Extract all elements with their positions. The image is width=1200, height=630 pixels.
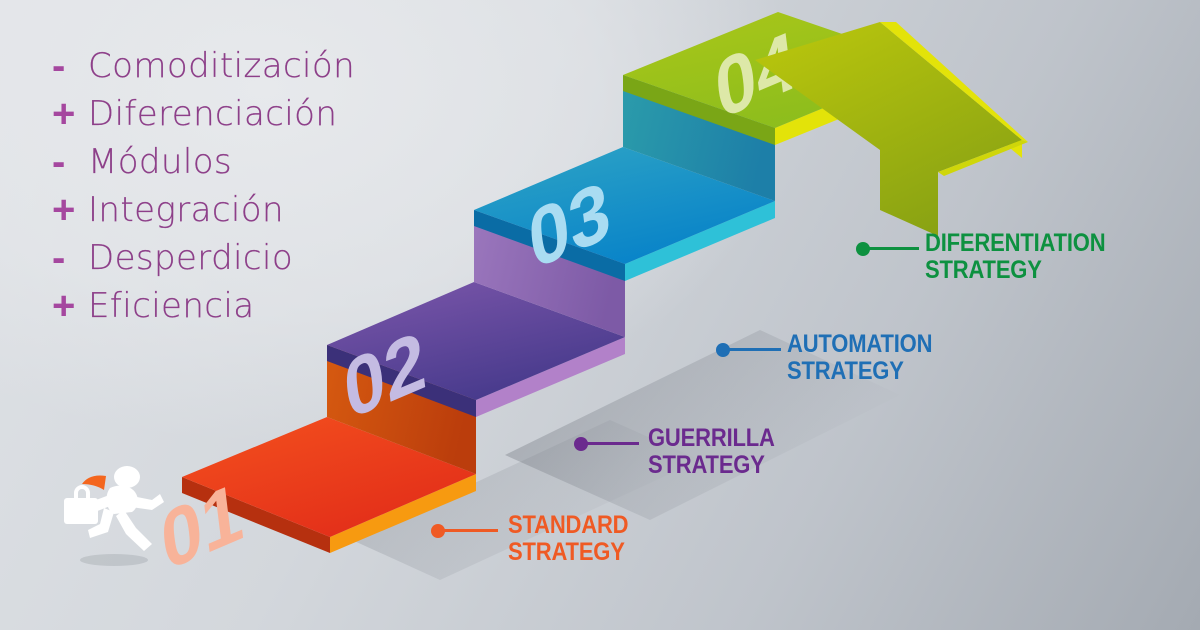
callout-standard-strategy: STANDARD STRATEGY — [508, 512, 628, 566]
callout-leader-diferentiation — [869, 247, 919, 250]
runner-shadow — [80, 554, 148, 566]
callout-line-1: DIFERENTIATION — [925, 229, 1105, 257]
callout-leader-automation — [729, 348, 781, 351]
callout-line-2: STRATEGY — [925, 257, 1105, 284]
callout-dot-guerrilla — [574, 437, 588, 451]
runner-briefcase — [64, 498, 98, 524]
callout-line-2: STRATEGY — [648, 452, 775, 479]
runner-briefcase-handle — [76, 487, 88, 498]
infographic-canvas: - Comoditización + Diferenciación - Módu… — [0, 0, 1200, 630]
callout-dot-standard — [431, 524, 445, 538]
callout-leader-guerrilla — [587, 442, 639, 445]
callout-line-2: STRATEGY — [787, 358, 932, 385]
callout-dot-automation — [716, 343, 730, 357]
callout-line-1: AUTOMATION — [787, 330, 932, 358]
callout-line-2: STRATEGY — [508, 539, 628, 566]
callout-line-1: STANDARD — [508, 511, 628, 539]
callout-leader-standard — [444, 529, 498, 532]
runner-front-leg — [116, 510, 152, 551]
callout-automation-strategy: AUTOMATION STRATEGY — [787, 331, 932, 385]
running-businessman-icon — [48, 452, 178, 572]
runner-head — [114, 466, 140, 488]
callout-dot-diferentiation — [856, 242, 870, 256]
callout-line-1: GUERRILLA — [648, 424, 775, 452]
callout-guerrilla-strategy: GUERRILLA STRATEGY — [648, 425, 775, 479]
callout-diferentiation-strategy: DIFERENTIATION STRATEGY — [925, 230, 1105, 284]
